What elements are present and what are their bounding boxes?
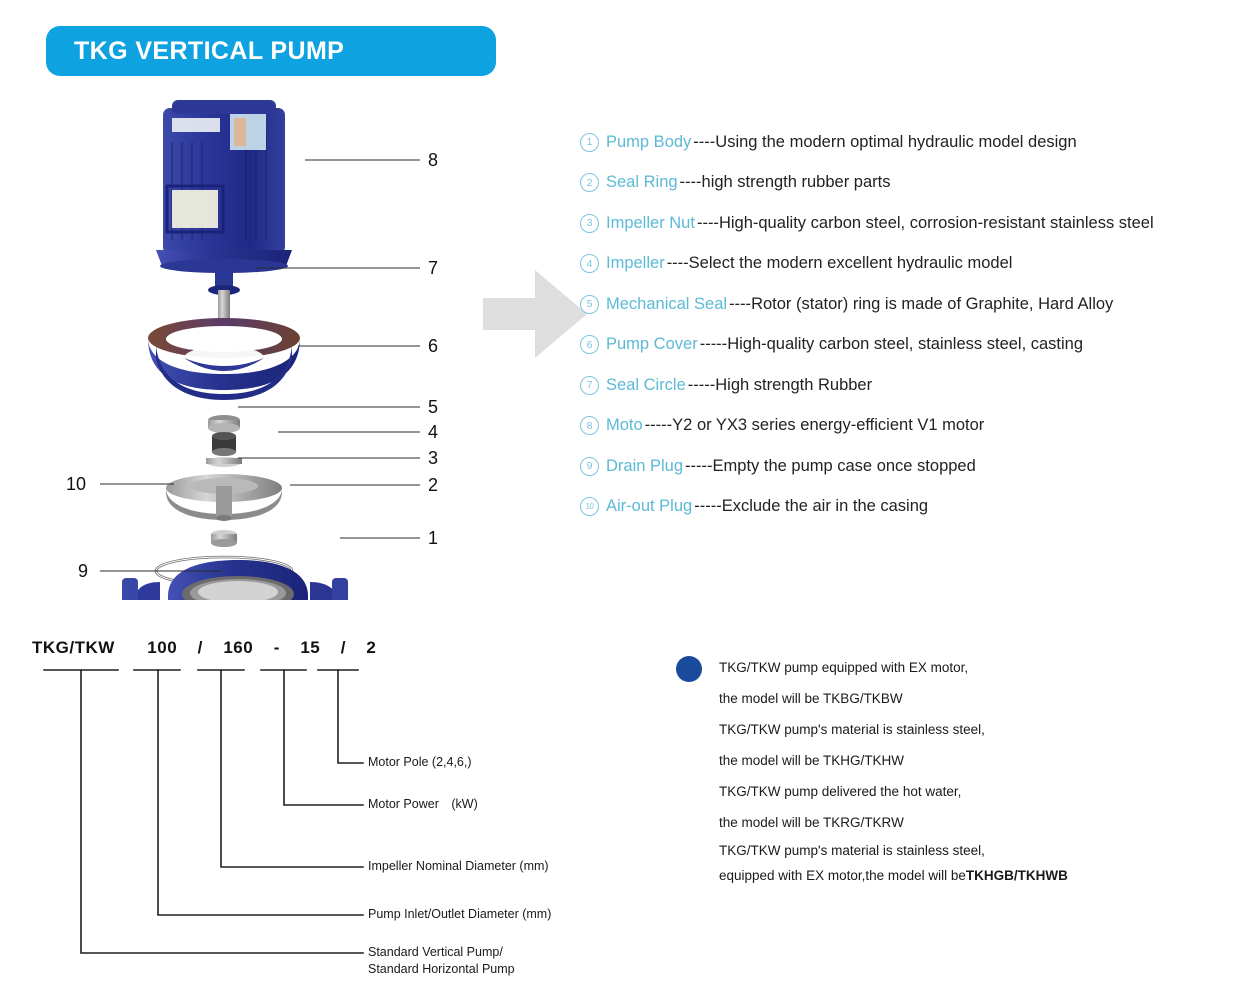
part-pump-cover: [148, 318, 300, 400]
legend-dash: -----: [685, 457, 712, 476]
legend-dash: ----: [729, 295, 751, 314]
legend-item-3: 3 Impeller Nut ---- High-quality carbon …: [580, 203, 1230, 244]
legend-dash: ----: [667, 254, 689, 273]
legend-number-icon: 9: [580, 457, 599, 476]
note-line-7: TKG/TKW pump's material is stainless ste…: [719, 838, 1216, 863]
legend-item-9: 9 Drain Plug ----- Empty the pump case o…: [580, 446, 1230, 487]
callout-number-9: 9: [78, 561, 88, 582]
callout-number-3: 3: [428, 448, 438, 469]
parts-legend-list: 1 Pump Body ---- Using the modern optima…: [580, 122, 1230, 527]
legend-number-icon: 1: [580, 133, 599, 152]
legend-part-name: Drain Plug: [606, 457, 683, 476]
legend-part-name: Impeller: [606, 254, 665, 273]
note-line-2: the model will be TKBG/TKBW: [719, 683, 1216, 714]
model-label-standard-horizontal-pump: Standard Horizontal Pump: [368, 961, 515, 978]
model-label-impeller-diameter: Impeller Nominal Diameter (mm): [368, 858, 549, 875]
legend-dash: -----: [645, 416, 672, 435]
callout-number-5: 5: [428, 397, 438, 418]
legend-part-name: Seal Ring: [606, 173, 678, 192]
model-label-inlet-outlet-diameter: Pump Inlet/Outlet Diameter (mm): [368, 906, 551, 923]
part-motor: [156, 100, 292, 273]
legend-dash: -----: [694, 497, 721, 516]
legend-part-name: Pump Cover: [606, 335, 698, 354]
note-line-6: the model will be TKRG/TKRW: [719, 807, 1216, 838]
legend-item-4: 4 Impeller ---- Select the modern excell…: [580, 244, 1230, 285]
note-line-8: equipped with EX motor,the model will be…: [719, 863, 1216, 888]
poster-root: TKG VERTICAL PUMP: [0, 0, 1234, 1000]
callout-number-2: 2: [428, 475, 438, 496]
page-title-banner: TKG VERTICAL PUMP: [46, 26, 496, 76]
legend-item-8: 8 Moto ----- Y2 or YX3 series energy-eff…: [580, 406, 1230, 447]
model-label-standard-vertical-pump: Standard Vertical Pump/: [368, 944, 503, 961]
legend-item-7: 7 Seal Circle ----- High strength Rubber: [580, 365, 1230, 406]
legend-number-icon: 3: [580, 214, 599, 233]
legend-number-icon: 7: [580, 376, 599, 395]
legend-part-name: Moto: [606, 416, 643, 435]
legend-number-icon: 2: [580, 173, 599, 192]
note-line-4: the model will be TKHG/TKHW: [719, 745, 1216, 776]
blue-dot-icon: [676, 656, 702, 682]
legend-description: Y2 or YX3 series energy-efficient V1 mot…: [672, 416, 984, 435]
legend-number-icon: 10: [580, 497, 599, 516]
part-impeller: [166, 474, 282, 521]
callout-number-6: 6: [428, 336, 438, 357]
part-mechanical-seal: [206, 415, 242, 467]
legend-dash: ----: [697, 214, 719, 233]
legend-description: Exclude the air in the casing: [722, 497, 928, 516]
flow-arrow-icon: [483, 262, 588, 367]
model-variants-notes: TKG/TKW pump equipped with EX motor, the…: [676, 652, 1216, 888]
legend-part-name: Seal Circle: [606, 376, 686, 395]
legend-dash: ----: [693, 133, 715, 152]
callout-number-10: 10: [66, 474, 86, 495]
legend-item-1: 1 Pump Body ---- Using the modern optima…: [580, 122, 1230, 163]
legend-number-icon: 4: [580, 254, 599, 273]
part-impeller-nut: [211, 530, 237, 547]
legend-number-icon: 6: [580, 335, 599, 354]
legend-number-icon: 8: [580, 416, 599, 435]
legend-description: High-quality carbon steel, corrosion-res…: [719, 214, 1154, 233]
legend-description: Rotor (stator) ring is made of Graphite,…: [751, 295, 1113, 314]
legend-dash: -----: [700, 335, 727, 354]
legend-description: high strength rubber parts: [702, 173, 891, 192]
callout-number-8: 8: [428, 150, 438, 171]
legend-part-name: Impeller Nut: [606, 214, 695, 233]
model-label-motor-power: Motor Power (kW): [368, 796, 478, 813]
legend-description: High-quality carbon steel, stainless ste…: [727, 335, 1083, 354]
legend-dash: -----: [688, 376, 715, 395]
legend-description: High strength Rubber: [715, 376, 872, 395]
note-line-8-text: equipped with EX motor,the model will be: [719, 869, 966, 883]
page-title: TKG VERTICAL PUMP: [74, 37, 344, 66]
part-pump-body: [122, 560, 348, 600]
legend-dash: ----: [680, 173, 702, 192]
legend-part-name: Mechanical Seal: [606, 295, 727, 314]
note-line-3: TKG/TKW pump's material is stainless ste…: [719, 714, 1216, 745]
legend-description: Empty the pump case once stopped: [713, 457, 976, 476]
legend-part-name: Pump Body: [606, 133, 691, 152]
legend-description: Using the modern optimal hydraulic model…: [715, 133, 1076, 152]
legend-item-5: 5 Mechanical Seal ---- Rotor (stator) ri…: [580, 284, 1230, 325]
legend-number-icon: 5: [580, 295, 599, 314]
note-line-8-model: TKHGB/TKHWB: [966, 869, 1068, 883]
legend-part-name: Air-out Plug: [606, 497, 692, 516]
model-label-motor-pole: Motor Pole (2,4,6,): [368, 754, 472, 771]
legend-item-2: 2 Seal Ring ---- high strength rubber pa…: [580, 163, 1230, 204]
callout-number-7: 7: [428, 258, 438, 279]
callout-number-1: 1: [428, 528, 438, 549]
note-line-1: TKG/TKW pump equipped with EX motor,: [719, 652, 1216, 683]
callout-number-4: 4: [428, 422, 438, 443]
legend-description: Select the modern excellent hydraulic mo…: [689, 254, 1013, 273]
legend-item-6: 6 Pump Cover ----- High-quality carbon s…: [580, 325, 1230, 366]
model-naming-diagram: TKG/TKW 100 / 160 - 15 / 2: [28, 630, 628, 960]
note-line-5: TKG/TKW pump delivered the hot water,: [719, 776, 1216, 807]
legend-item-10: 10 Air-out Plug ----- Exclude the air in…: [580, 487, 1230, 528]
exploded-pump-diagram: 8 7 6 5 4 3 2 1 10 9: [60, 90, 480, 600]
